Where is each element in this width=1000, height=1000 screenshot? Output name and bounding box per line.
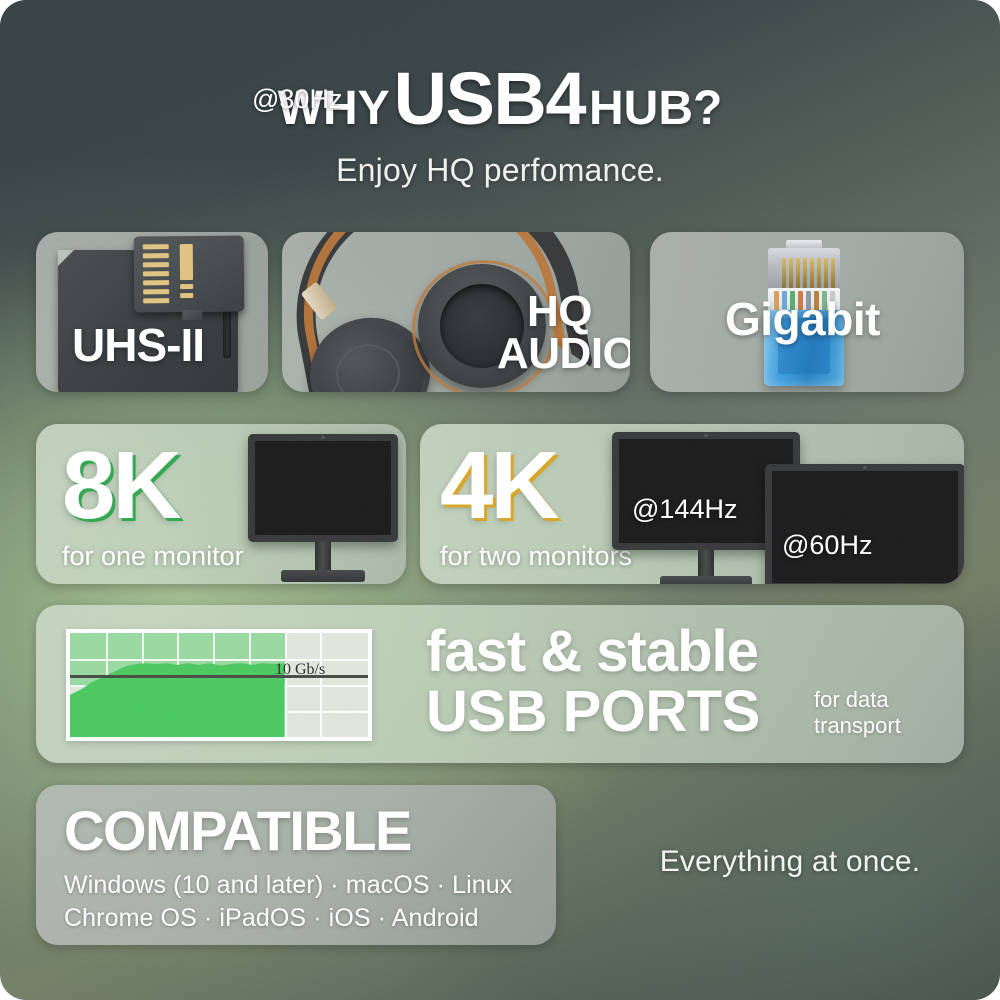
- resolution-4k-value: 4K: [440, 438, 557, 534]
- monitor-icon: [248, 434, 398, 542]
- chart-gridline-v: [285, 633, 287, 737]
- microsd-contacts-left: [143, 244, 170, 307]
- sd-card-notch: [58, 250, 74, 266]
- resolution-4k-caption: for two monitors: [440, 541, 632, 572]
- usb-note: for data transport: [814, 687, 901, 740]
- rj45-contact-block: [768, 248, 840, 290]
- webcam-icon: [863, 466, 867, 469]
- monitor-stand-base: [281, 570, 365, 582]
- monitor-stand-neck: [315, 542, 331, 572]
- audio-label-line2: AUDIO: [497, 329, 630, 379]
- chart-threshold-label: 10 Gb/s: [275, 661, 325, 679]
- feature-card-compatible: COMPATIBLE Windows (10 and later) · macO…: [36, 785, 556, 945]
- page-subtitle: Enjoy HQ perfomance.: [0, 152, 1000, 189]
- rj45-gold-pins: [782, 258, 835, 288]
- title-main: USB4: [394, 57, 585, 140]
- microsd-contacts-right: [180, 244, 194, 302]
- compatible-os-line2: Chrome OS · iPadOS · iOS · Android: [64, 904, 479, 933]
- feature-card-usb-ports: 10 Gb/s fast & stable USB PORTS for data…: [36, 605, 964, 763]
- monitor-primary-stand-base: [660, 576, 752, 584]
- webcam-icon: [704, 434, 708, 437]
- throughput-chart-icon: 10 Gb/s: [66, 629, 372, 741]
- title-suffix: HUB?: [589, 82, 722, 135]
- usb-headline-line2: USB PORTS: [426, 683, 760, 741]
- page-title: WHY USB4 HUB?: [0, 62, 1000, 136]
- feature-card-storage: UHS-II: [36, 232, 268, 392]
- monitor-primary-stand-neck: [698, 550, 714, 578]
- storage-label: UHS-II: [72, 318, 204, 372]
- refresh-rate-4k-primary: @144Hz: [632, 494, 737, 525]
- chart-gridline-v: [320, 633, 322, 737]
- refresh-rate-4k-secondary: @60Hz: [782, 530, 872, 561]
- feature-card-display-8k: 8K for one monitor: [36, 424, 406, 584]
- usb-headline-line1: fast & stable: [426, 623, 758, 681]
- feature-card-network: Gigabit: [650, 232, 964, 392]
- poster-header: WHY USB4 HUB? Enjoy HQ perfomance.: [0, 62, 1000, 189]
- network-label: Gigabit: [725, 292, 880, 346]
- refresh-rate-8k: @30Hz: [252, 84, 342, 115]
- resolution-8k-value: 8K: [62, 438, 179, 534]
- webcam-icon: [321, 436, 325, 439]
- infographic-poster: WHY USB4 HUB? Enjoy HQ perfomance. UHS-I…: [0, 0, 1000, 1000]
- feature-card-audio: HQ AUDIO: [282, 232, 630, 392]
- compatible-title: COMPATIBLE: [64, 803, 411, 859]
- compatible-os-line1: Windows (10 and later) · macOS · Linux: [64, 871, 512, 900]
- poster-tagline: Everything at once.: [620, 845, 960, 879]
- monitor-secondary-icon: [765, 464, 964, 584]
- monitor-screen: [248, 434, 398, 542]
- microsd-card-icon: [134, 236, 245, 313]
- monitor-secondary-screen: [765, 464, 964, 584]
- usb-note-line2: transport: [814, 713, 901, 739]
- usb-note-line1: for data: [814, 687, 901, 713]
- resolution-8k-caption: for one monitor: [62, 541, 244, 572]
